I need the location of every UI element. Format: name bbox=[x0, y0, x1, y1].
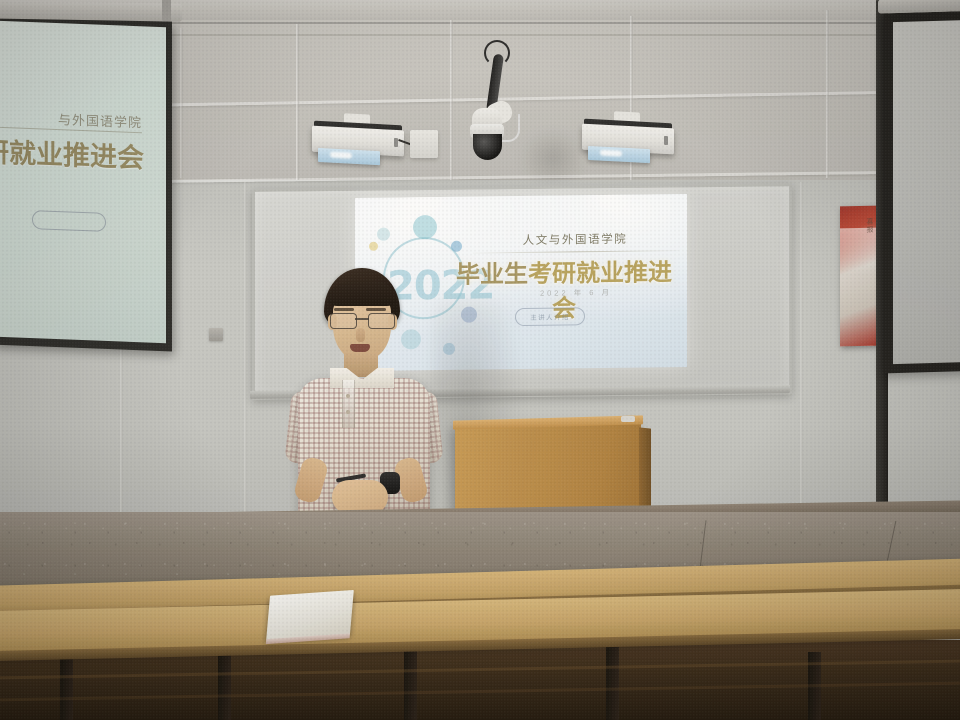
presenter-brow-left bbox=[334, 308, 354, 311]
projector-left bbox=[312, 118, 404, 165]
camera-wire bbox=[502, 114, 520, 142]
wall-joint-2 bbox=[450, 20, 453, 180]
wall-outlet[interactable] bbox=[209, 328, 223, 341]
screen-roller-left bbox=[0, 0, 182, 21]
desk-leg-4 bbox=[606, 646, 619, 720]
camera-dome bbox=[473, 134, 502, 160]
screen-roller-right bbox=[878, 0, 960, 14]
projector-vent-left bbox=[394, 138, 398, 147]
camera-shadow bbox=[518, 128, 588, 188]
shirt-button-2 bbox=[346, 410, 350, 414]
screen-surface-left: 与外国语学院 研就业推进会 bbox=[0, 21, 166, 344]
wall-joint-lower-2 bbox=[244, 182, 247, 512]
wall-joint-1 bbox=[296, 24, 299, 180]
left-slide-badge bbox=[32, 210, 106, 232]
banner-text: 喜报 bbox=[862, 218, 874, 234]
wall-joint-0 bbox=[180, 28, 183, 178]
projection-screen-right[interactable] bbox=[884, 11, 960, 374]
left-slide-title: 研就业推进会 bbox=[0, 126, 144, 175]
slide-subtitle: 人文与外国语学院 bbox=[475, 230, 675, 248]
wall-control-panel[interactable] bbox=[410, 130, 438, 158]
notebook[interactable] bbox=[266, 590, 354, 640]
projector-hotspot-2 bbox=[575, 194, 645, 213]
eyeglasses-icon bbox=[330, 313, 394, 328]
podium-clip bbox=[621, 416, 635, 422]
projector-right bbox=[582, 116, 674, 163]
banner-gloss bbox=[840, 228, 878, 275]
glasses-lens-right bbox=[368, 313, 395, 329]
deco-dot-1 bbox=[413, 215, 437, 239]
presenter-mouth bbox=[350, 344, 370, 352]
shirt-placket bbox=[342, 380, 355, 428]
projection-screen-left[interactable]: 与外国语学院 研就业推进会 bbox=[0, 15, 172, 352]
projector-glow-right bbox=[600, 150, 622, 157]
glasses-bridge bbox=[355, 318, 369, 320]
glasses-lens-left bbox=[330, 313, 357, 329]
screen-surface-right bbox=[893, 20, 960, 365]
wall-joint-4 bbox=[826, 10, 829, 178]
presenter-brow-right bbox=[366, 308, 386, 311]
red-banner-poster: 喜报 bbox=[840, 206, 878, 347]
security-camera bbox=[464, 42, 524, 162]
screen-bracket-left bbox=[162, 0, 171, 21]
shirt-button-1 bbox=[346, 394, 350, 398]
deco-dot-2 bbox=[451, 241, 462, 252]
presenter-fringe bbox=[327, 280, 397, 306]
deco-dot-3 bbox=[369, 242, 378, 251]
classroom-photo: 与外国语学院 研就业推进会 bbox=[0, 0, 960, 720]
deco-dot-4 bbox=[377, 228, 390, 241]
slide-badge: 主讲人介绍 bbox=[515, 307, 585, 326]
projector-vent-right bbox=[664, 136, 668, 145]
desk-leg-3 bbox=[404, 642, 417, 720]
wall-joint-lower-3 bbox=[800, 182, 803, 512]
projector-hotspot-1 bbox=[385, 194, 455, 218]
presenter-nose bbox=[356, 328, 365, 342]
projector-glow-left bbox=[330, 152, 352, 159]
slide-title-part1: 毕业生 bbox=[456, 261, 528, 289]
